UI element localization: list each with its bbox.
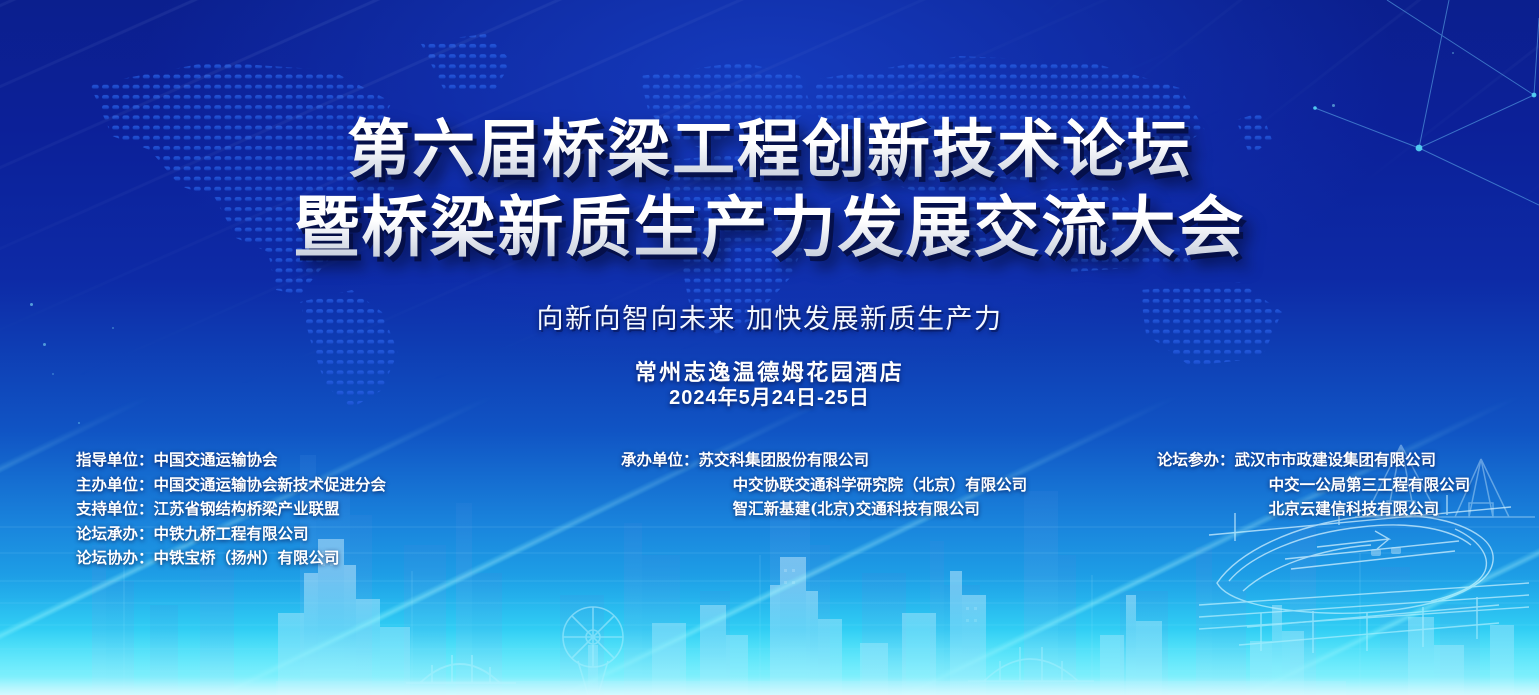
organizer-label: 支持单位： <box>76 497 154 522</box>
title-line-2: 暨桥梁新质生产力发展交流大会 <box>0 188 1539 266</box>
organizer-row: 中交一公局第三工程有限公司 <box>1157 473 1470 498</box>
organizer-value: 中国交通运输协会 <box>154 448 278 473</box>
organizer-value: 中铁宝桥（扬州）有限公司 <box>154 546 340 571</box>
event-dates: 2024年5月24日-25日 <box>0 381 1539 410</box>
organizer-label: 主办单位： <box>76 473 154 498</box>
organizer-value: 中铁九桥工程有限公司 <box>154 522 309 547</box>
organizer-row: 论坛协办： 中铁宝桥（扬州）有限公司 <box>76 546 386 571</box>
organizer-indent <box>1157 473 1269 498</box>
organizers-right-column: 论坛参办： 武汉市市政建设集团有限公司 中交一公局第三工程有限公司 北京云建信科… <box>1157 448 1470 522</box>
organizer-value: 智汇新基建(北京)交通科技有限公司 <box>733 497 980 522</box>
organizer-row: 支持单位： 江苏省钢结构桥梁产业联盟 <box>76 497 386 522</box>
organizer-row: 中交协联交通科学研究院（北京）有限公司 <box>621 473 1027 498</box>
organizer-row: 指导单位： 中国交通运输协会 <box>76 448 386 473</box>
title-line-1: 第六届桥梁工程创新技术论坛 <box>0 110 1539 188</box>
organizer-label: 指导单位： <box>76 448 154 473</box>
organizer-value: 江苏省钢结构桥梁产业联盟 <box>154 497 340 522</box>
organizer-value: 苏交科集团股份有限公司 <box>699 448 870 473</box>
organizer-value: 武汉市市政建设集团有限公司 <box>1235 448 1437 473</box>
organizer-row: 智汇新基建(北京)交通科技有限公司 <box>621 497 1027 522</box>
organizer-label: 论坛参办： <box>1157 448 1235 473</box>
organizers-left-column: 指导单位： 中国交通运输协会 主办单位： 中国交通运输协会新技术促进分会 支持单… <box>76 448 386 571</box>
organizer-value: 中交协联交通科学研究院（北京）有限公司 <box>733 473 1028 498</box>
organizer-value: 中国交通运输协会新技术促进分会 <box>154 473 387 498</box>
organizer-label: 论坛承办： <box>76 522 154 547</box>
organizer-indent <box>1157 497 1269 522</box>
organizer-row: 承办单位： 苏交科集团股份有限公司 <box>621 448 1027 473</box>
organizers-middle-column: 承办单位： 苏交科集团股份有限公司 中交协联交通科学研究院（北京）有限公司 智汇… <box>621 448 1027 522</box>
organizer-label: 论坛协办： <box>76 546 154 571</box>
organizer-row: 论坛承办： 中铁九桥工程有限公司 <box>76 522 386 547</box>
organizer-value: 中交一公局第三工程有限公司 <box>1269 473 1471 498</box>
poster-title-block: 第六届桥梁工程创新技术论坛 暨桥梁新质生产力发展交流大会 <box>0 110 1539 266</box>
poster-content: 第六届桥梁工程创新技术论坛 暨桥梁新质生产力发展交流大会 向新向智向未来 加快发… <box>0 0 1539 695</box>
organizer-indent <box>621 473 733 498</box>
organizer-row: 论坛参办： 武汉市市政建设集团有限公司 <box>1157 448 1470 473</box>
organizer-label: 承办单位： <box>621 448 699 473</box>
organizer-row: 北京云建信科技有限公司 <box>1157 497 1470 522</box>
organizer-row: 主办单位： 中国交通运输协会新技术促进分会 <box>76 473 386 498</box>
conference-poster: 第六届桥梁工程创新技术论坛 暨桥梁新质生产力发展交流大会 向新向智向未来 加快发… <box>0 0 1539 695</box>
organizer-value: 北京云建信科技有限公司 <box>1269 497 1440 522</box>
poster-subtitle: 向新向智向未来 加快发展新质生产力 <box>0 297 1539 336</box>
organizer-indent <box>621 497 733 522</box>
